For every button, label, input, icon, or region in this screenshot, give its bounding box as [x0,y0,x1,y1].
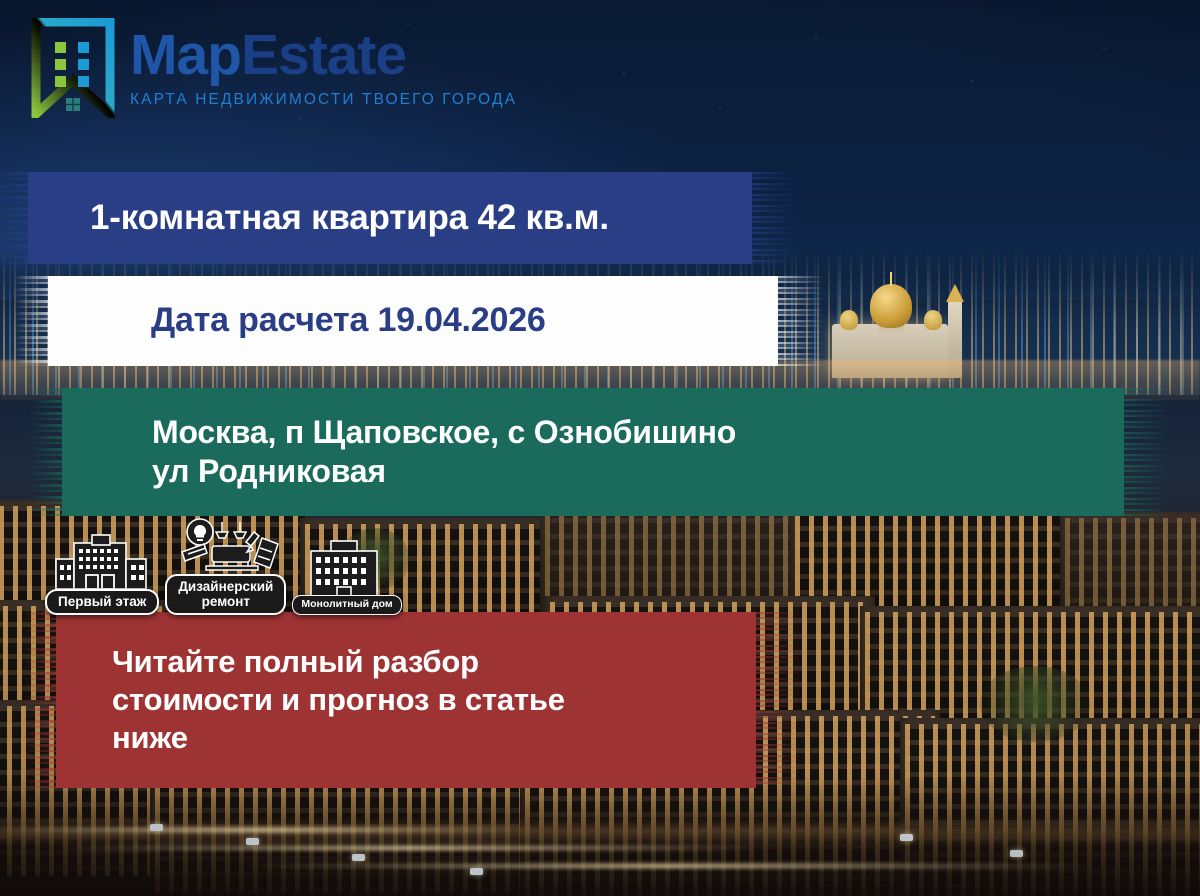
property-title: 1-комнатная квартира 42 кв.м. [90,197,609,240]
brand-tagline: КАРТА НЕДВИЖИМОСТИ ТВОЕГО ГОРОДА [130,91,517,109]
feature-badges: Первый этаж [45,518,402,615]
night-road [0,776,1200,896]
badge-monolith-house[interactable]: Монолитный дом [292,539,401,615]
address-band: Москва, п Щаповское, с Ознобишино ул Род… [62,388,1124,516]
badge-label-line-2: ремонт [202,594,250,609]
brand-name-part2: Estate [241,23,406,87]
bookmark-building-icon [30,18,116,118]
badge-first-floor[interactable]: Первый этаж [45,533,159,615]
property-address: Москва, п Щаповское, с Ознобишино ул Род… [152,413,736,491]
monolith-house-icon [297,539,397,601]
cta-text: Читайте полный разбор стоимости и прогно… [112,643,565,756]
address-line-1: Москва, п Щаповское, с Ознобишино [152,414,736,450]
brand-logo[interactable]: MapEstate КАРТА НЕДВИЖИМОСТИ ТВОЕГО ГОРО… [30,18,517,118]
calculation-date-band: Дата расчета 19.04.2026 [48,276,778,366]
brand-name: MapEstate [130,27,517,84]
calculation-date: Дата расчета 19.04.2026 [151,300,546,341]
badge-designer-renovation[interactable]: Дизайнерский ремонт [165,518,286,615]
interior-design-icon [176,518,276,580]
address-line-2: ул Родниковая [152,452,736,491]
badge-label-monolith-house: Монолитный дом [292,595,401,615]
apartment-building-icon [52,533,152,595]
cta-line-1: Читайте полный разбор [112,643,565,681]
property-title-band: 1-комнатная квартира 42 кв.м. [28,172,752,264]
badge-label-line-1: Дизайнерский [178,579,273,594]
cta-line-3: ниже [112,719,565,757]
cta-band: Читайте полный разбор стоимости и прогно… [56,612,756,788]
property-promo-poster: MapEstate КАРТА НЕДВИЖИМОСТИ ТВОЕГО ГОРО… [0,0,1200,896]
cta-line-2: стоимости и прогноз в статье [112,681,565,719]
brand-name-part1: Map [130,23,241,87]
badge-label-designer-renovation: Дизайнерский ремонт [165,574,286,615]
badge-label-first-floor: Первый этаж [45,589,159,615]
